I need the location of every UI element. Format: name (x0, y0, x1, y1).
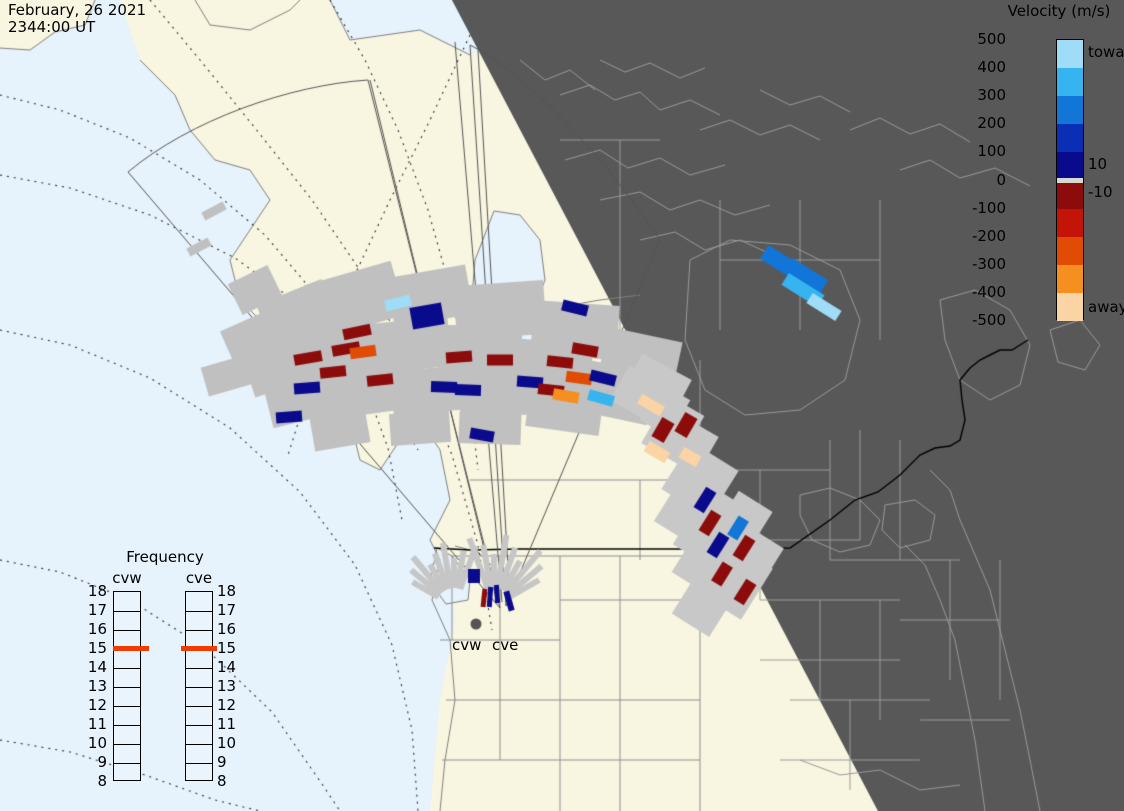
time-text: 2344:00 UT (8, 18, 95, 36)
frequency-gridline (114, 706, 140, 707)
frequency-gridline (186, 668, 212, 669)
frequency-column-label-cvw: cvw (102, 569, 152, 587)
frequency-gridline (114, 763, 140, 764)
frequency-gridline (186, 763, 212, 764)
colorbar-band-8 (1057, 237, 1083, 266)
velocity-colorbar: Velocity (m/s) 5004003002001000-100-200-… (1006, 2, 1124, 332)
frequency-tick-cvw-13: 13 (81, 677, 107, 695)
frequency-gridline (114, 744, 140, 745)
colorbar-tick--500: -500 (946, 311, 1006, 329)
frequency-tick-cve-14: 14 (217, 658, 243, 676)
radar-site-label-cve: cve (492, 636, 518, 654)
frequency-bar-cve (185, 591, 213, 781)
frequency-tick-cve-12: 12 (217, 696, 243, 714)
colorbar-tick--100: -100 (946, 199, 1006, 217)
frequency-tick-cve-8: 8 (217, 772, 243, 790)
colorbar-title: Velocity (m/s) (994, 2, 1124, 20)
frequency-tick-cve-15: 15 (217, 639, 243, 657)
frequency-tick-cvw-16: 16 (81, 620, 107, 638)
frequency-tick-cve-16: 16 (217, 620, 243, 638)
colorbar-tick-400: 400 (946, 58, 1006, 76)
timestamp-label: February, 26 2021 2344:00 UT (8, 2, 146, 36)
frequency-gridline (114, 668, 140, 669)
colorbar-tick-0: 0 (946, 171, 1006, 189)
colorbar-pos-threshold-label: 10 (1088, 155, 1107, 173)
frequency-gridline (186, 725, 212, 726)
frequency-gridline (114, 725, 140, 726)
colorbar-band-2 (1057, 96, 1083, 125)
frequency-gridline (186, 630, 212, 631)
date-text: February, 26 2021 (8, 1, 146, 19)
frequency-tick-cve-18: 18 (217, 582, 243, 600)
radar-map-screenshot: February, 26 2021 2344:00 UT Velocity (m… (0, 0, 1124, 811)
frequency-tick-cve-13: 13 (217, 677, 243, 695)
frequency-tick-cvw-10: 10 (81, 734, 107, 752)
colorbar-tick--400: -400 (946, 283, 1006, 301)
colorbar-band-10 (1057, 293, 1083, 321)
frequency-gridline (186, 611, 212, 612)
frequency-tick-cve-11: 11 (217, 715, 243, 733)
colorbar-tick-300: 300 (946, 86, 1006, 104)
frequency-tick-cvw-8: 8 (81, 772, 107, 790)
colorbar-band-4 (1057, 152, 1083, 178)
colorbar-band-0 (1057, 40, 1083, 69)
colorbar-tick-500: 500 (946, 30, 1006, 48)
frequency-tick-cve-9: 9 (217, 753, 243, 771)
frequency-tick-cvw-12: 12 (81, 696, 107, 714)
colorbar-band-1 (1057, 68, 1083, 97)
colorbar-tick-100: 100 (946, 142, 1006, 160)
frequency-gridline (186, 687, 212, 688)
frequency-tick-cvw-15: 15 (81, 639, 107, 657)
colorbar-tick-200: 200 (946, 114, 1006, 132)
colorbar-neg-threshold-label: -10 (1088, 183, 1113, 201)
colorbar-band-3 (1057, 124, 1083, 153)
frequency-tick-cvw-18: 18 (81, 582, 107, 600)
colorbar-band-7 (1057, 209, 1083, 238)
frequency-tick-cvw-14: 14 (81, 658, 107, 676)
frequency-tick-cve-10: 10 (217, 734, 243, 752)
frequency-legend: Frequency cvw18171615141312111098cve1817… (85, 548, 245, 783)
colorbar-band-6 (1057, 183, 1083, 209)
frequency-marker-cvw (113, 646, 149, 651)
frequency-bar-cvw (113, 591, 141, 781)
colorbar-tick--200: -200 (946, 227, 1006, 245)
frequency-gridline (114, 687, 140, 688)
frequency-marker-cve (181, 646, 217, 651)
frequency-gridline (186, 744, 212, 745)
frequency-tick-cvw-11: 11 (81, 715, 107, 733)
frequency-title: Frequency (85, 548, 245, 566)
radar-site-label-cvw: cvw (452, 636, 481, 654)
frequency-gridline (114, 630, 140, 631)
colorbar-away-label: away (1088, 298, 1124, 316)
frequency-tick-cvw-17: 17 (81, 601, 107, 619)
colorbar-gradient (1056, 39, 1084, 320)
frequency-gridline (114, 611, 140, 612)
frequency-tick-cve-17: 17 (217, 601, 243, 619)
colorbar-band-9 (1057, 265, 1083, 294)
colorbar-tick--300: -300 (946, 255, 1006, 273)
frequency-tick-cvw-9: 9 (81, 753, 107, 771)
frequency-gridline (186, 706, 212, 707)
colorbar-toward-label: toward (1088, 43, 1124, 61)
